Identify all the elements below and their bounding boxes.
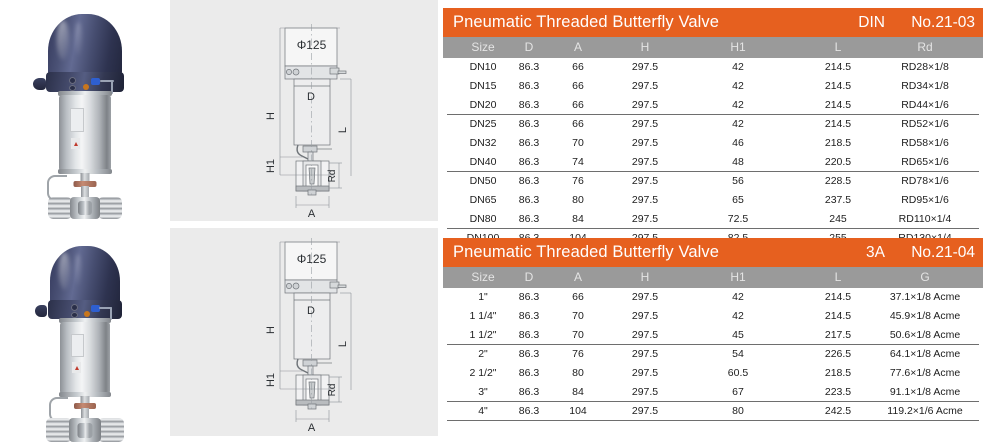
label-h1: H1	[265, 373, 277, 387]
table-cell: 86.3	[519, 118, 539, 130]
table-cell: 65	[732, 194, 744, 206]
column-header: A	[574, 270, 582, 284]
actuator-cylinder	[60, 322, 110, 394]
table-cell: 54	[732, 348, 744, 360]
table-cell: 4"	[478, 405, 488, 417]
column-header: L	[835, 40, 842, 54]
table-cell: 56	[732, 175, 744, 187]
column-header: D	[525, 40, 534, 54]
table-cell: 1"	[478, 291, 488, 303]
label-h1: H1	[265, 159, 277, 173]
label-diameter: Φ125	[297, 252, 327, 266]
table-cell: 245	[829, 213, 847, 225]
table-row: DN1086.366297.542214.5RD28×1/8	[443, 58, 983, 77]
table-cell: 84	[572, 213, 584, 225]
table-cell: 76	[572, 175, 584, 187]
table-cell: 86.3	[519, 348, 539, 360]
table-cell: 86.3	[519, 175, 539, 187]
table-cell: DN50	[470, 175, 497, 187]
table-cell: 86.3	[519, 386, 539, 398]
table-cell: RD65×1/6	[901, 156, 949, 168]
table-cell: 86.3	[519, 367, 539, 379]
table-standard: DIN	[858, 14, 885, 32]
table-cell: RD34×1/8	[901, 80, 949, 92]
table-header-row: SizeDAHH1LRd	[443, 37, 983, 58]
table-cell: 77.6×1/8 Acme	[890, 367, 960, 379]
table-cell: 297.5	[632, 99, 658, 111]
table-cell: 218.5	[825, 367, 851, 379]
cable-gland	[33, 78, 46, 90]
table-row: 1"86.366297.542214.537.1×1/8 Acme	[443, 288, 983, 307]
table-cell: 242.5	[825, 405, 851, 417]
table-cell: DN80	[470, 213, 497, 225]
table-cell: 86.3	[519, 329, 539, 341]
indicator-button	[71, 304, 78, 311]
table-row: DN4086.374297.548220.5RD65×1/6	[443, 153, 983, 172]
column-header: Size	[471, 270, 494, 284]
table-cell: 226.5	[825, 348, 851, 360]
table-cell: RD95×1/6	[901, 194, 949, 206]
table-cell: DN15	[470, 80, 497, 92]
table-cell: 86.3	[519, 291, 539, 303]
table-cell: 297.5	[632, 348, 658, 360]
column-header: Rd	[917, 40, 932, 54]
cable-gland	[35, 305, 47, 317]
dimension-drawing-3a: Φ125 D H H1 L Rd A	[170, 228, 438, 436]
dimension-drawing-column: Φ125 D H H1 L Rd A	[170, 0, 438, 436]
table-cell: 76	[572, 348, 584, 360]
table-row: 2 1/2"86.380297.560.5218.577.6×1/8 Acme	[443, 364, 983, 383]
label-h: H	[265, 326, 277, 334]
table-cell: 218.5	[825, 137, 851, 149]
table-cell: 84	[572, 386, 584, 398]
table-row: DN2086.366297.542214.5RD44×1/6	[443, 96, 983, 115]
table-cell: 66	[572, 291, 584, 303]
column-header: D	[525, 270, 534, 284]
table-cell: RD28×1/8	[901, 61, 949, 73]
table-cell: 2"	[478, 348, 488, 360]
table-row: 2"86.376297.554226.564.1×1/8 Acme	[443, 345, 983, 364]
table-cell: 297.5	[632, 175, 658, 187]
table-cell: 42	[732, 310, 744, 322]
table-title-bar: Pneumatic Threaded Butterfly Valve3ANo.2…	[443, 238, 983, 267]
table-cell: 80	[572, 367, 584, 379]
table-cell: 237.5	[825, 194, 851, 206]
table-row: DN8086.384297.572.5245RD110×1/4	[443, 210, 983, 229]
dimension-drawing-3a-svg: Φ125 D H H1 L Rd A	[170, 228, 438, 436]
table-cell: 214.5	[825, 118, 851, 130]
table-row: DN3286.370297.546218.5RD58×1/6	[443, 134, 983, 153]
indicator-button	[69, 77, 76, 84]
table-cell: RD110×1/4	[899, 213, 952, 225]
table-cell: 3"	[478, 386, 488, 398]
table-body: 1"86.366297.542214.537.1×1/8 Acme1 1/4"8…	[443, 288, 983, 421]
table-cell: 297.5	[632, 329, 658, 341]
label-a: A	[308, 208, 316, 220]
table-cell: DN20	[470, 99, 497, 111]
table-cell: 42	[732, 61, 744, 73]
table-cell: 74	[572, 156, 584, 168]
table-cell: DN40	[470, 156, 497, 168]
table-number: No.21-03	[911, 14, 975, 32]
table-cell: RD44×1/6	[901, 99, 949, 111]
table-cell: 64.1×1/8 Acme	[890, 348, 960, 360]
table-row: 1 1/2"86.370297.545217.550.6×1/8 Acme	[443, 326, 983, 345]
butterfly-valve-body	[46, 418, 124, 442]
table-cell: 297.5	[632, 61, 658, 73]
table-cell: 223.5	[825, 386, 851, 398]
datasheet-page: Φ125 D H H1 L Rd A	[0, 0, 983, 436]
table-cell: 86.3	[519, 137, 539, 149]
table-cell: 297.5	[632, 386, 658, 398]
table-row: DN5086.376297.556228.5RD78×1/6	[443, 172, 983, 191]
table-cell: 66	[572, 118, 584, 130]
air-port	[84, 311, 90, 317]
table-cell: 50.6×1/8 Acme	[890, 329, 960, 341]
table-cell: 220.5	[825, 156, 851, 168]
table-cell: 45.9×1/8 Acme	[890, 310, 960, 322]
table-standard: 3A	[866, 244, 885, 262]
column-header: G	[920, 270, 929, 284]
table-title-bar: Pneumatic Threaded Butterfly ValveDINNo.…	[443, 8, 983, 37]
table-cell: 214.5	[825, 61, 851, 73]
table-cell: 66	[572, 99, 584, 111]
column-header: H	[641, 40, 650, 54]
table-cell: 119.2×1/6 Acme	[887, 405, 962, 417]
product-photo-column	[0, 0, 170, 436]
table-row: DN6586.380297.565237.5RD95×1/6	[443, 191, 983, 210]
column-header: H1	[730, 40, 745, 54]
table-cell: 297.5	[632, 310, 658, 322]
table-row: DN1586.366297.542214.5RD34×1/8	[443, 77, 983, 96]
table-cell: 48	[732, 156, 744, 168]
table-cell: 2 1/2"	[469, 367, 496, 379]
table-cell: 297.5	[632, 137, 658, 149]
table-title: Pneumatic Threaded Butterfly Valve	[443, 243, 719, 262]
table-row: DN2586.366297.542214.5RD52×1/6	[443, 115, 983, 134]
table-cell: 42	[732, 291, 744, 303]
table-cell: 86.3	[519, 310, 539, 322]
label-l: L	[337, 127, 349, 133]
table-cell: 86.3	[519, 194, 539, 206]
table-row: 4"86.3104297.580242.5119.2×1/6 Acme	[443, 402, 983, 421]
table-cell: DN10	[470, 61, 497, 73]
table-cell: 297.5	[632, 194, 658, 206]
table-cell: 42	[732, 118, 744, 130]
spec-table-3a: Pneumatic Threaded Butterfly Valve3ANo.2…	[443, 238, 983, 421]
table-cell: 70	[572, 137, 584, 149]
table-cell: RD52×1/6	[901, 118, 949, 130]
table-cell: 37.1×1/8 Acme	[890, 291, 960, 303]
column-header: H1	[730, 270, 745, 284]
panel-top-edge	[170, 0, 438, 4]
table-cell: 42	[732, 80, 744, 92]
table-cell: 297.5	[632, 156, 658, 168]
label-d: D	[307, 305, 315, 317]
spec-tables: Pneumatic Threaded Butterfly ValveDINNo.…	[443, 0, 983, 436]
table-cell: RD78×1/6	[901, 175, 949, 187]
table-cell: 72.5	[728, 213, 748, 225]
table-cell: 214.5	[825, 310, 851, 322]
table-cell: 66	[572, 61, 584, 73]
table-cell: RD58×1/6	[901, 137, 949, 149]
table-cell: 66	[572, 80, 584, 92]
table-cell: 217.5	[825, 329, 851, 341]
table-cell: 297.5	[632, 80, 658, 92]
table-cell: 86.3	[519, 405, 539, 417]
dimension-drawing-din-svg: Φ125 D H H1 L Rd A	[170, 0, 438, 221]
table-row: 1 1/4"86.370297.542214.545.9×1/8 Acme	[443, 307, 983, 326]
table-cell: 86.3	[519, 99, 539, 111]
table-title: Pneumatic Threaded Butterfly Valve	[443, 13, 719, 32]
table-cell: 42	[732, 99, 744, 111]
table-cell: 46	[732, 137, 744, 149]
butterfly-valve-body	[48, 197, 122, 219]
table-cell: 297.5	[632, 291, 658, 303]
column-header: A	[574, 40, 582, 54]
column-header: L	[835, 270, 842, 284]
table-cell: 70	[572, 329, 584, 341]
table-row: 3"86.384297.567223.591.1×1/8 Acme	[443, 383, 983, 402]
table-cell: 297.5	[632, 213, 658, 225]
label-rd: Rd	[327, 384, 338, 397]
actuator-cylinder	[59, 95, 111, 171]
label-rd: Rd	[327, 170, 338, 183]
table-cell: 60.5	[728, 367, 748, 379]
table-cell: 1 1/4"	[469, 310, 496, 322]
table-cell: 214.5	[825, 99, 851, 111]
table-cell: 86.3	[519, 80, 539, 92]
column-header: Size	[471, 40, 494, 54]
air-port	[83, 84, 89, 90]
table-cell: 86.3	[519, 213, 539, 225]
table-cell: 80	[732, 405, 744, 417]
table-number: No.21-04	[911, 244, 975, 262]
table-cell: 67	[732, 386, 744, 398]
label-h: H	[265, 112, 277, 120]
table-cell: 297.5	[632, 118, 658, 130]
table-cell: 104	[569, 405, 587, 417]
table-cell: 1 1/2"	[469, 329, 496, 341]
label-d: D	[307, 91, 315, 103]
product-photo-din	[0, 0, 170, 225]
table-header-row: SizeDAHH1LG	[443, 267, 983, 288]
product-photo-3a	[0, 228, 170, 436]
table-cell: 91.1×1/8 Acme	[890, 386, 960, 398]
table-cell: 297.5	[632, 367, 658, 379]
table-cell: 297.5	[632, 405, 658, 417]
dimension-drawing-din: Φ125 D H H1 L Rd A	[170, 0, 438, 221]
table-cell: 228.5	[825, 175, 851, 187]
table-cell: 70	[572, 310, 584, 322]
table-cell: 80	[572, 194, 584, 206]
table-cell: 214.5	[825, 80, 851, 92]
table-cell: DN65	[470, 194, 497, 206]
label-l: L	[337, 341, 349, 347]
table-cell: DN32	[470, 137, 497, 149]
table-cell: 86.3	[519, 61, 539, 73]
table-cell: 45	[732, 329, 744, 341]
label-diameter: Φ125	[297, 38, 327, 52]
table-cell: DN25	[470, 118, 497, 130]
table-cell: 214.5	[825, 291, 851, 303]
label-a: A	[308, 422, 316, 434]
table-cell: 86.3	[519, 156, 539, 168]
air-port	[91, 78, 100, 85]
column-header: H	[641, 270, 650, 284]
